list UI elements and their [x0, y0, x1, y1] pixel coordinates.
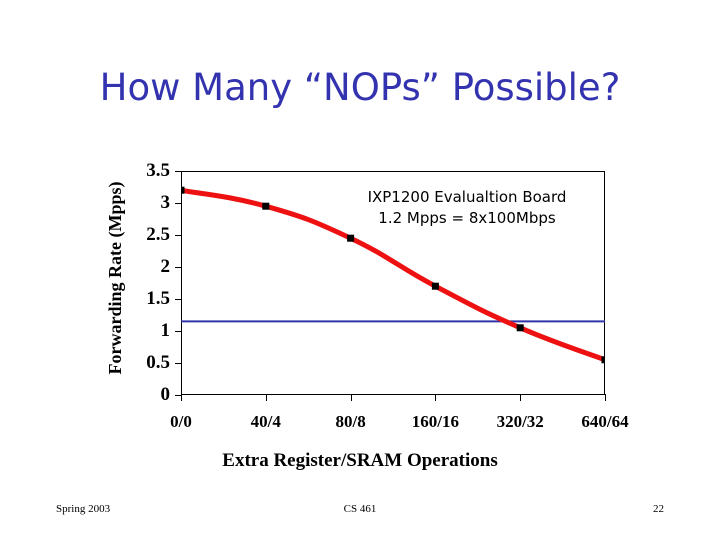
x-axis-tick-mark	[181, 394, 182, 401]
data-point-marker	[262, 203, 269, 210]
line-chart: Forwarding Rate (Mpps) 00.511.522.533.5 …	[0, 0, 720, 540]
annotation-line-2: 1.2 Mpps = 8x100Mbps	[332, 208, 602, 229]
x-axis-tick-label: 320/32	[475, 412, 565, 432]
data-point-marker	[181, 187, 185, 194]
y-axis-tick-label: 1.5	[126, 289, 170, 308]
x-axis-tick-mark	[351, 394, 352, 401]
y-axis-tick-label: 2	[126, 257, 170, 276]
y-axis-tick-mark	[175, 235, 182, 236]
chart-annotation: IXP1200 Evalualtion Board 1.2 Mpps = 8x1…	[332, 187, 602, 229]
data-point-marker	[602, 356, 606, 363]
footer-course: CS 461	[56, 503, 664, 515]
x-axis-tick-label: 40/4	[221, 412, 311, 432]
x-axis-tick-labels: 0/040/480/8160/16320/32640/64	[140, 412, 650, 436]
y-axis-tick-label: 1	[126, 321, 170, 340]
data-point-marker	[432, 283, 439, 290]
x-axis-tick-mark	[435, 394, 436, 401]
y-axis-tick-mark	[175, 171, 182, 172]
x-axis-tick-label: 80/8	[306, 412, 396, 432]
x-axis-tick-label: 0/0	[136, 412, 226, 432]
y-axis-tick-label: 0.5	[126, 353, 170, 372]
y-axis-title: Forwarding Rate (Mpps)	[105, 155, 125, 401]
annotation-line-1: IXP1200 Evalualtion Board	[332, 187, 602, 208]
x-axis-tick-mark	[266, 394, 267, 401]
x-axis-tick-label: 160/16	[390, 412, 480, 432]
slide-footer: Spring 2003 CS 461 22	[56, 503, 664, 519]
data-point-marker	[517, 324, 524, 331]
y-axis-tick-mark	[175, 203, 182, 204]
y-axis-tick-label: 2.5	[126, 225, 170, 244]
y-axis-tick-label: 0	[126, 385, 170, 404]
y-axis-tick-label: 3	[126, 193, 170, 212]
y-axis-tick-mark	[175, 363, 182, 364]
x-axis-tick-mark	[520, 394, 521, 401]
x-axis-tick-label: 640/64	[560, 412, 650, 432]
slide: How Many “NOPs” Possible? Forwarding Rat…	[0, 0, 720, 540]
y-axis-tick-mark	[175, 299, 182, 300]
y-axis-tick-mark	[175, 267, 182, 268]
footer-page-number: 22	[653, 503, 664, 515]
y-axis-tick-mark	[175, 331, 182, 332]
x-axis-title: Extra Register/SRAM Operations	[0, 450, 720, 472]
data-point-marker	[347, 235, 354, 242]
y-axis-tick-label: 3.5	[126, 161, 170, 180]
x-axis-tick-mark	[605, 394, 606, 401]
